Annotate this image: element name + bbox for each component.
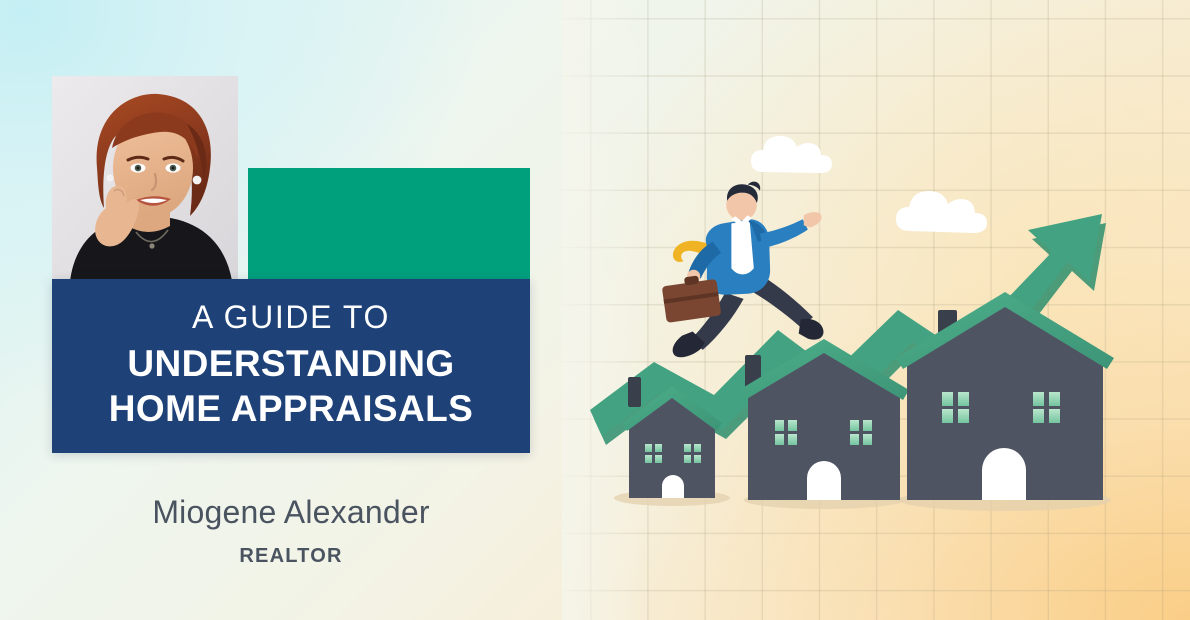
door-large bbox=[982, 448, 1026, 500]
cloud-icon-2 bbox=[896, 191, 987, 233]
realtor-headshot bbox=[52, 76, 238, 281]
front-arm bbox=[760, 219, 808, 248]
title-line-1: A GUIDE TO bbox=[192, 301, 390, 334]
door-small bbox=[662, 475, 684, 498]
poster-canvas: A GUIDE TO UNDERSTANDING HOME APPRAISALS… bbox=[0, 0, 1190, 620]
title-line-2: UNDERSTANDING bbox=[127, 341, 454, 386]
green-accent-block bbox=[248, 168, 530, 279]
rising-market-illustration bbox=[562, 0, 1190, 620]
poster-title: A GUIDE TO UNDERSTANDING HOME APPRAISALS bbox=[52, 279, 530, 453]
door-medium bbox=[807, 461, 841, 500]
cloud-icon-1 bbox=[751, 136, 832, 173]
chimney-small bbox=[628, 377, 641, 407]
large-house bbox=[896, 292, 1114, 500]
businessman-figure bbox=[662, 182, 824, 358]
front-shoe bbox=[799, 319, 824, 340]
briefcase-icon bbox=[662, 275, 722, 322]
agent-name: Miogene Alexander bbox=[52, 494, 530, 531]
front-hand bbox=[804, 212, 822, 227]
title-line-3: HOME APPRAISALS bbox=[109, 386, 473, 431]
agent-role: REALTOR bbox=[52, 545, 530, 568]
